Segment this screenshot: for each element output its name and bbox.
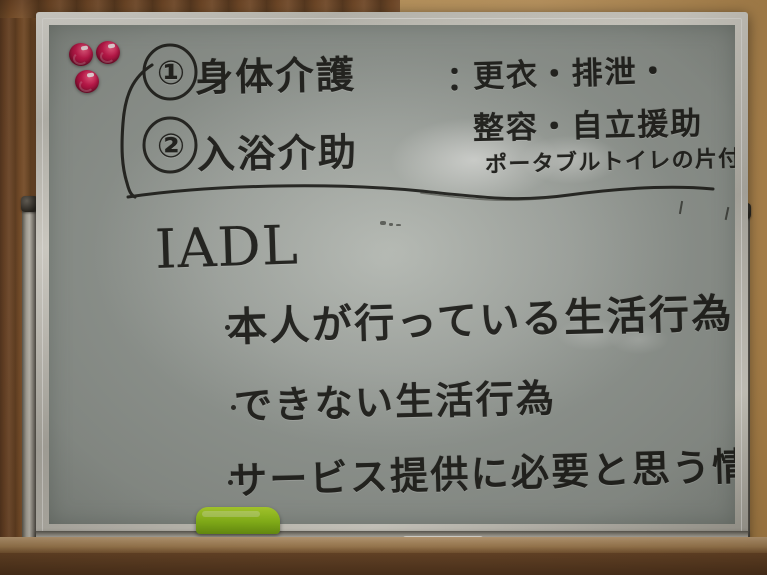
bullet-line-2: できない生活行為 (233, 367, 556, 430)
whiteboard-frame: ① ② 身体介護 ： 入浴介助 更衣・排泄・ 整容・自立援助 ポータブルトイレの… (36, 12, 748, 550)
note-line-2: 整容・自立援助 (472, 98, 703, 148)
bullet-line-3: サービス提供に必要と思う情報 (228, 434, 735, 505)
whiteboard-eraser[interactable] (196, 507, 280, 534)
magnet-3[interactable] (75, 70, 99, 93)
stray-mark (389, 223, 393, 226)
heading-iadl: IADL (154, 213, 300, 280)
stray-tick-mark (679, 201, 683, 214)
note-line-3: ポータブルトイレの片付 (485, 141, 735, 179)
bullet-line-1: 本人が行っている生活行為 (226, 281, 734, 353)
wood-paneling-bottom (0, 553, 767, 575)
whiteboard-photo-scene: ① ② 身体介護 ： 入浴介助 更衣・排泄・ 整容・自立援助 ポータブルトイレの… (0, 0, 767, 575)
list-marker-2: ② (157, 126, 187, 165)
shelf-edge (0, 537, 767, 553)
list-marker-1: ① (157, 53, 187, 92)
stray-mark (396, 224, 401, 226)
heading-bathing-assistance: 入浴介助 (197, 121, 359, 179)
magnet-1[interactable] (69, 43, 93, 66)
whiteboard-surface[interactable]: ① ② 身体介護 ： 入浴介助 更衣・排泄・ 整容・自立援助 ポータブルトイレの… (49, 25, 735, 524)
stray-tick-mark (725, 207, 730, 220)
stand-post-left (22, 208, 37, 575)
magnet-2[interactable] (96, 41, 120, 64)
heading-physical-care: 身体介護 (194, 44, 356, 102)
note-line-1: 更衣・排泄・ (472, 46, 670, 96)
stray-mark (380, 221, 386, 225)
